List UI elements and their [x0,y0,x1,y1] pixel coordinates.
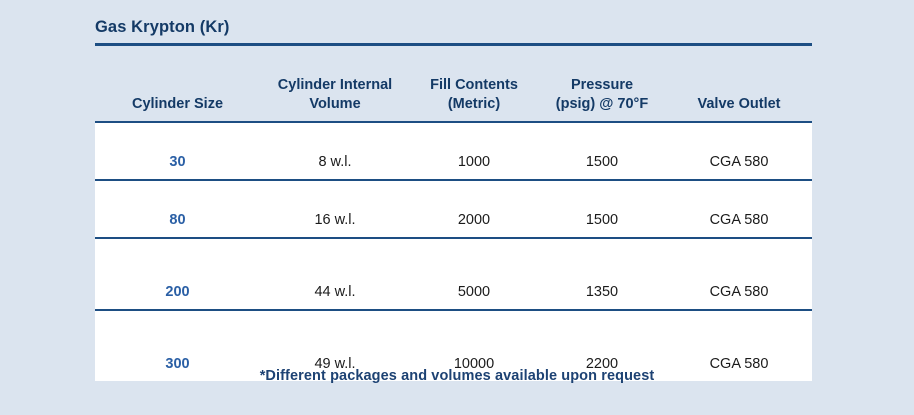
cell-valve-outlet: CGA 580 [666,122,812,180]
column-header-valve-outlet: Valve Outlet [666,57,812,122]
title-block: Gas Krypton (Kr) [95,16,812,46]
cell-pressure: 1500 [538,180,666,238]
cylinder-spec-table: Cylinder Size Cylinder Internal Volume F… [95,57,812,381]
cell-pressure: 1500 [538,122,666,180]
column-header-fill-contents-line2: (Metric) [448,96,500,112]
cell-fill-contents: 5000 [410,238,538,310]
column-header-valve-outlet-line2: Valve Outlet [697,96,780,112]
column-header-cylinder-internal-volume-line2: Volume [309,96,360,112]
cell-cylinder-size: 200 [95,238,260,310]
page-title: Gas Krypton (Kr) [95,16,812,38]
column-header-cylinder-internal-volume-line1: Cylinder Internal [278,77,392,93]
cell-fill-contents: 2000 [410,180,538,238]
column-header-pressure-line2: (psig) @ 70°F [556,96,648,112]
table-row: 30 8 w.l. 1000 1500 CGA 580 [95,122,812,180]
cell-cylinder-internal-volume: 8 w.l. [260,122,410,180]
spec-table-container: Cylinder Size Cylinder Internal Volume F… [95,57,812,381]
footnote: *Different packages and volumes availabl… [0,368,914,384]
gas-spec-sheet: Gas Krypton (Kr) Cylinder Size Cylinder … [0,0,914,415]
column-header-fill-contents-line1: Fill Contents [430,77,518,93]
cell-cylinder-size: 30 [95,122,260,180]
cell-fill-contents: 1000 [410,122,538,180]
table-header: Cylinder Size Cylinder Internal Volume F… [95,57,812,122]
cell-cylinder-internal-volume: 44 w.l. [260,238,410,310]
column-header-cylinder-internal-volume: Cylinder Internal Volume [260,57,410,122]
column-header-cylinder-size-line2: Cylinder Size [132,96,223,112]
title-divider [95,43,812,46]
cell-cylinder-internal-volume: 16 w.l. [260,180,410,238]
table-body: 30 8 w.l. 1000 1500 CGA 580 80 16 w.l. 2… [95,122,812,381]
column-header-pressure-line1: Pressure [571,77,633,93]
column-header-pressure: Pressure (psig) @ 70°F [538,57,666,122]
cell-valve-outlet: CGA 580 [666,238,812,310]
table-row: 200 44 w.l. 5000 1350 CGA 580 [95,238,812,310]
column-header-fill-contents: Fill Contents (Metric) [410,57,538,122]
cell-pressure: 1350 [538,238,666,310]
table-header-row: Cylinder Size Cylinder Internal Volume F… [95,57,812,122]
column-header-cylinder-size: Cylinder Size [95,57,260,122]
table-row: 80 16 w.l. 2000 1500 CGA 580 [95,180,812,238]
cell-cylinder-size: 80 [95,180,260,238]
cell-valve-outlet: CGA 580 [666,180,812,238]
